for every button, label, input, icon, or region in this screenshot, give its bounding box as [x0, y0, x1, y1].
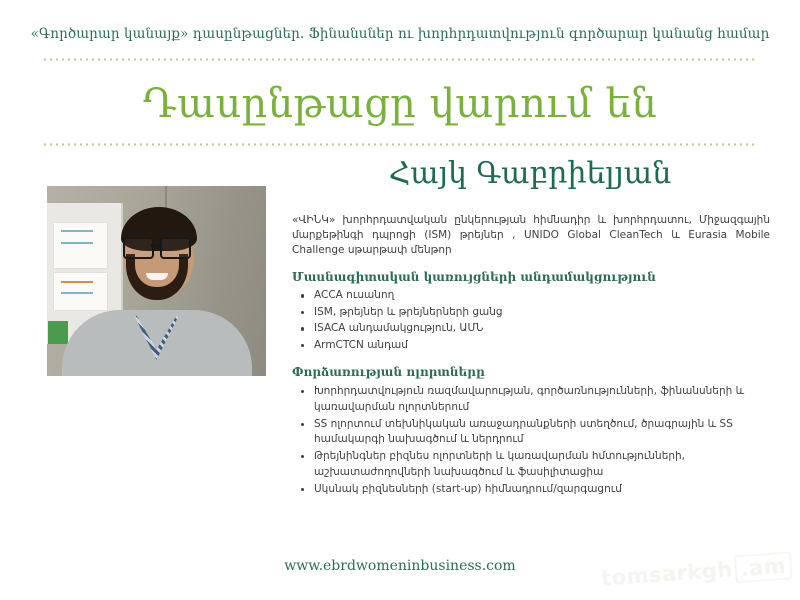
photo-document-b — [54, 273, 106, 310]
photo-green-binder — [48, 321, 67, 343]
watermark-name: tomsarkgh — [600, 558, 733, 591]
slide-title: Դասընթացը վարում են — [0, 82, 800, 126]
slide-header-text: «Գործարար կանայք» դասընթացներ. Ֆինանսներ… — [0, 26, 800, 42]
photo-glasses-right-lens — [160, 237, 191, 259]
bio-intro-paragraph: «ՎԻՆԿ» խորհրդատվական ընկերության հիմնադի… — [292, 213, 770, 258]
expertise-list: Խորհրդատվություն ռազմավարության, գործառն… — [292, 384, 770, 497]
list-item: SS ոլորտում տեխնիկական առաջադրանքների ստ… — [312, 417, 770, 449]
dotted-divider-top — [42, 58, 758, 61]
list-item: ArmCTCN անդամ — [312, 338, 770, 354]
speaker-photo — [47, 186, 266, 376]
photo-document-line — [61, 281, 93, 283]
list-item: ISM, թրեյներ և թրեյներների ցանց — [312, 305, 770, 321]
photo-document-line — [61, 230, 93, 232]
photo-document-line — [61, 242, 93, 244]
photo-document-line — [61, 292, 93, 294]
memberships-list: ACCA ուսանող ISM, թրեյներ և թրեյներների … — [292, 288, 770, 353]
dotted-divider-bottom — [42, 143, 758, 146]
photo-glasses — [123, 237, 191, 256]
list-item: ACCA ուսանող — [312, 288, 770, 304]
list-item: Սկսնակ բիզնեսների (start-up) հիմնադրում/… — [312, 482, 770, 498]
list-item: Խորհրդատվություն ռազմավարության, գործառն… — [312, 384, 770, 416]
speaker-bio: «ՎԻՆԿ» խորհրդատվական ընկերության հիմնադի… — [292, 213, 770, 509]
photo-document-a — [54, 223, 106, 268]
section-heading-memberships: Մասնագիտական կառույցների անդամակցություն — [292, 270, 770, 286]
list-item: Թրեյնինգներ բիզնես ոլորտների և կառավարմա… — [312, 449, 770, 481]
list-item: ISACA անդամակցություն, ԱՄՆ — [312, 321, 770, 337]
person-name: Հայկ Գաբրիելյան — [290, 157, 770, 192]
presentation-slide: «Գործարար կանայք» դասընթացներ. Ֆինանսներ… — [0, 0, 800, 600]
watermark-domain-tag: .am — [733, 551, 792, 583]
section-heading-expertise: Փորձառության ոլորտները — [292, 365, 770, 381]
photo-glasses-left-lens — [123, 237, 154, 259]
